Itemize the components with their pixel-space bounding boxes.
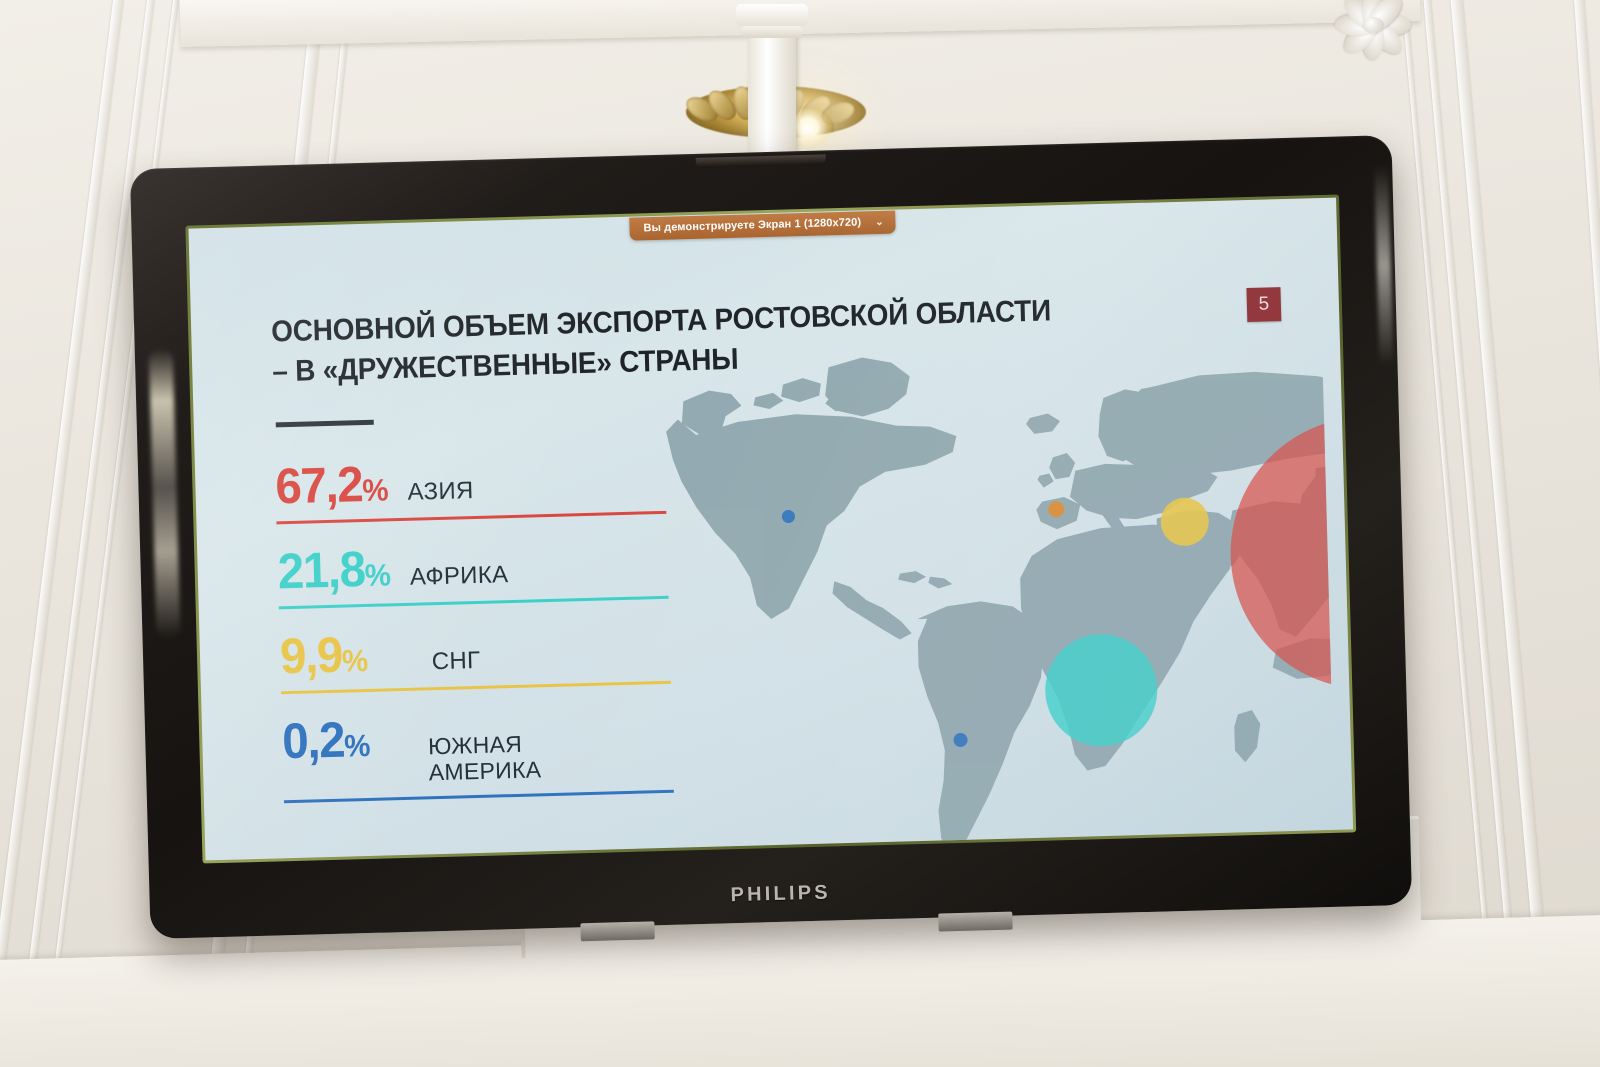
percent-sign: % <box>362 472 388 508</box>
tv-mount-collar <box>736 4 808 26</box>
stat-underline-africa <box>279 596 669 610</box>
chevron-down-icon[interactable]: ⌄ <box>875 216 884 227</box>
stat-underline-asia <box>276 511 666 525</box>
ceiling-molding-right <box>1421 0 1531 1067</box>
stat-value-south-america: 0,2% <box>282 714 370 766</box>
title-underline-rule <box>276 420 374 428</box>
tv-mount-bracket <box>580 921 654 941</box>
presentation-slide: ОСНОВНОЙ ОБЪЕМ ЭКСПОРТА РОСТОВСКОЙ ОБЛАС… <box>188 198 1353 861</box>
percent-sign: % <box>364 557 390 593</box>
stat-underline-south-america <box>284 789 674 803</box>
screen-share-label: Вы демонстрируете Экран 1 (1280x720) <box>643 216 861 234</box>
tv-mount-bracket <box>938 912 1012 932</box>
ceiling-molding-left <box>0 0 128 1067</box>
stat-value-cis: 9,9% <box>279 629 367 681</box>
plaster-rosette-ornament <box>1325 0 1421 56</box>
stat-label-cis: СНГ <box>432 648 481 676</box>
tv-screen: ОСНОВНОЙ ОБЪЕМ ЭКСПОРТА РОСТОВСКОЙ ОБЛАС… <box>188 198 1353 861</box>
export-share-legend: 67,2% АЗИЯ 21,8% АФРИКА <box>275 451 675 825</box>
stat-row-asia: 67,2% АЗИЯ <box>275 451 667 525</box>
stat-row-cis: 9,9% СНГ <box>279 621 671 695</box>
status-badge: 5 <box>1246 287 1281 322</box>
ceiling-molding-left <box>11 0 159 1067</box>
percent-sign: % <box>341 643 367 679</box>
ceiling-molding-right <box>1448 0 1563 1067</box>
percent-sign: % <box>344 728 370 764</box>
stat-label-south-america: ЮЖНАЯ АМЕРИКА <box>428 731 542 786</box>
page-title: ОСНОВНОЙ ОБЪЕМ ЭКСПОРТА РОСТОВСКОЙ ОБЛАС… <box>271 291 1063 392</box>
stat-underline-cis <box>281 681 671 695</box>
stat-value-asia: 67,2% <box>275 458 388 511</box>
stat-row-south-america: 0,2% ЮЖНАЯ АМЕРИКА <box>282 706 674 803</box>
tv-mount-collar <box>742 26 802 38</box>
stat-label-asia: АЗИЯ <box>407 478 474 506</box>
stat-row-africa: 21,8% АФРИКА <box>277 536 669 610</box>
wall-mounted-television: PHILIPS <box>130 135 1412 939</box>
stat-value-africa: 21,8% <box>277 543 390 596</box>
tv-screen-frame: ОСНОВНОЙ ОБЪЕМ ЭКСПОРТА РОСТОВСКОЙ ОБЛАС… <box>185 195 1356 864</box>
stat-label-africa: АФРИКА <box>410 562 509 591</box>
ceiling-molding-right <box>1572 0 1600 1067</box>
